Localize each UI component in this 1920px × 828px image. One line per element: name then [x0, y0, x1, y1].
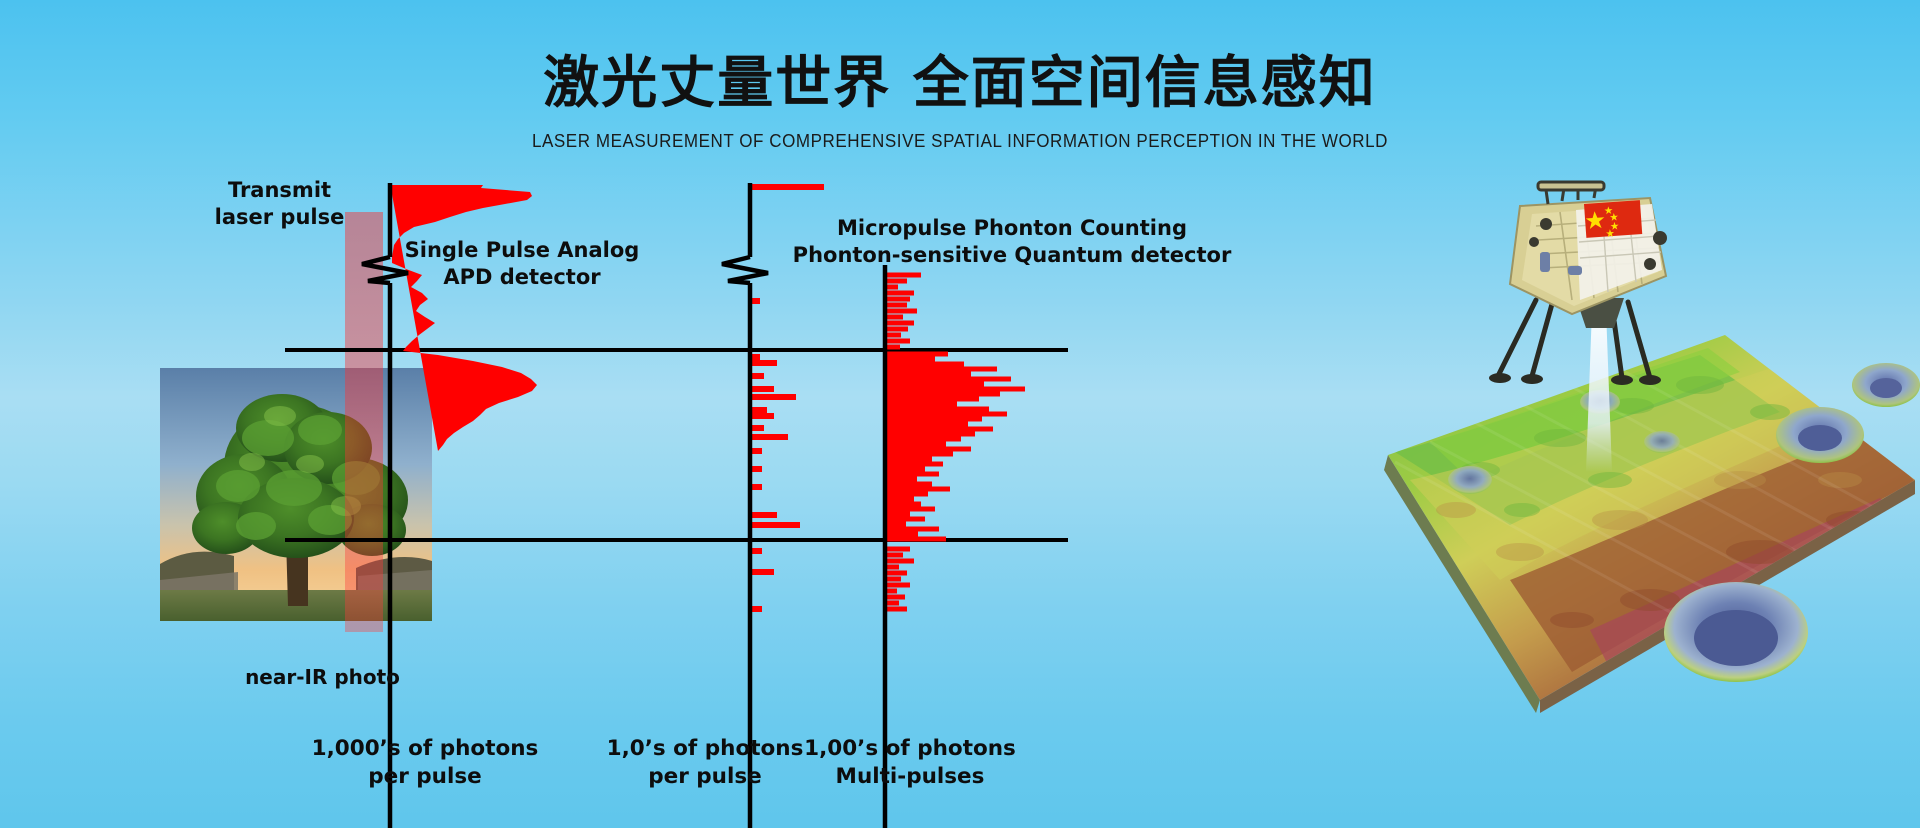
crater [1776, 407, 1864, 463]
lander-footpad [1489, 373, 1511, 383]
lander-laser-beam [1586, 310, 1612, 472]
caption-low-rate-photons: 1,0’s of photons per pulse [590, 735, 820, 791]
lander-footpad [1521, 374, 1543, 384]
crater [1448, 466, 1492, 494]
lander-footpad [1611, 375, 1633, 385]
analog-waveform-area [390, 183, 537, 451]
page-title: 激光丈量世界 全面空间信息感知 [0, 52, 1920, 116]
crater [1664, 582, 1808, 682]
crater [1644, 431, 1680, 453]
label-near-ir-photo: near-IR photo [195, 665, 450, 691]
elevation-surface [1384, 335, 1920, 713]
lunar-lander-terrain-scene [1180, 180, 1920, 780]
chinese-flag-icon [1584, 200, 1642, 239]
banner-header: 激光丈量世界 全面空间信息感知 LASER MEASUREMENT OF COM… [0, 0, 1920, 152]
label-transmit-laser-pulse: Transmit laser pulse [172, 177, 387, 231]
label-single-pulse-analog: Single Pulse Analog APD detector [372, 237, 672, 291]
caption-micropulse-photons: 1,00’s of photons Multi-pulses [790, 735, 1030, 791]
page-subtitle: LASER MEASUREMENT OF COMPREHENSIVE SPATI… [77, 130, 1843, 152]
caption-analog-photons: 1,000’s of photons per pulse [300, 735, 550, 791]
lidar-waveform-diagram: Transmit laser pulse Single Pulse Analog… [0, 165, 1150, 828]
micropulse-spikes [885, 275, 1025, 609]
chart-low-rate [722, 183, 824, 828]
low-rate-axis [722, 183, 768, 828]
lunar-lander [1489, 182, 1667, 385]
crater [1852, 363, 1920, 407]
lander-footpad [1639, 375, 1661, 385]
